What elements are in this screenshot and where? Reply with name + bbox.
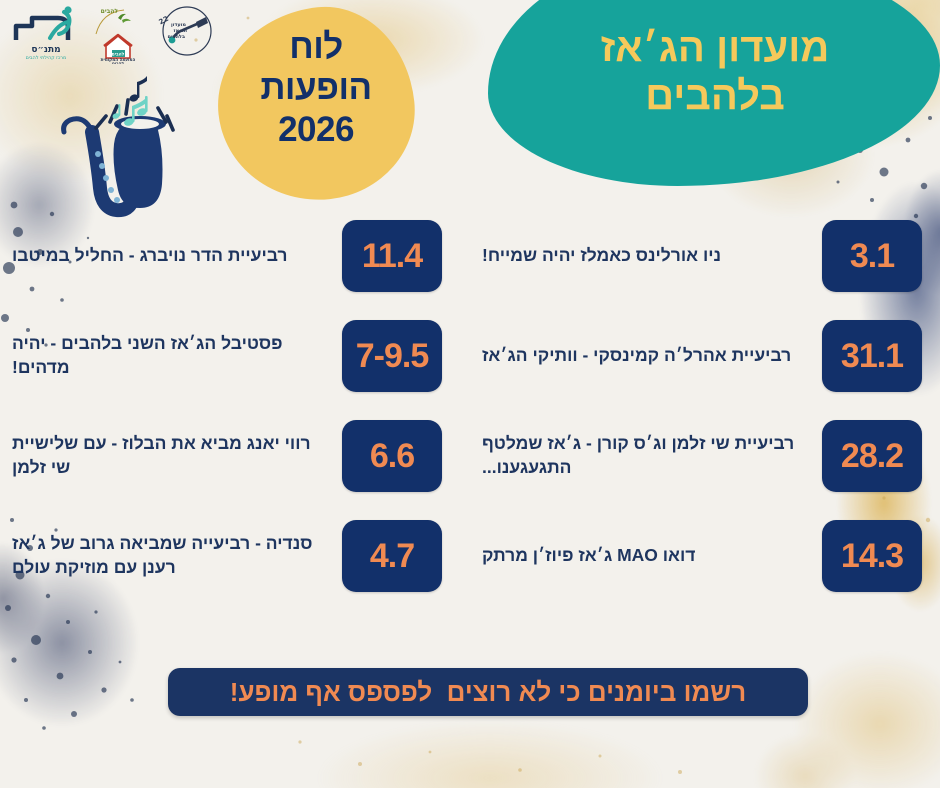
- event-date-badge[interactable]: 7-9.5: [342, 320, 442, 392]
- event-row[interactable]: 3.1 ניו אורלינס כאמלז יהיה שמייח!: [470, 206, 940, 306]
- jazz-club-lehavim-logo: 22 מועדון הג׳אז בלהבים: [156, 4, 218, 65]
- events-column-right: 3.1 ניו אורלינס כאמלז יהיה שמייח! 31.1 ר…: [470, 206, 940, 606]
- event-description: רביעיית אהרל׳ה קמינסקי - וותיקי הג׳אז: [470, 344, 822, 368]
- event-date-badge[interactable]: 6.6: [342, 420, 442, 492]
- schedule-title-line1: לוח: [228, 26, 404, 67]
- event-description: פסטיבל הג׳אז השני בלהבים - יהיה מדהים!: [0, 332, 342, 379]
- event-row[interactable]: 14.3 דואו MAO ג׳אז פיוז׳ן מרתק: [470, 506, 940, 606]
- svg-text:מתנ״ס: מתנ״ס: [31, 45, 60, 55]
- logo-strip: 22 מועדון הג׳אז בלהבים קהילה איכותית להב…: [8, 4, 218, 70]
- event-date-badge[interactable]: 28.2: [822, 420, 922, 492]
- event-date-badge[interactable]: 11.4: [342, 220, 442, 292]
- event-row[interactable]: 7-9.5 פסטיבל הג׳אז השני בלהבים - יהיה מד…: [0, 306, 470, 406]
- event-row[interactable]: 28.2 רביעיית שי זלמן וג׳ס קורן - ג׳אז שמ…: [470, 406, 940, 506]
- svg-text:להבים: להבים: [112, 61, 125, 64]
- schedule-title-year: 2026: [228, 109, 404, 150]
- svg-text:להבים: להבים: [101, 8, 119, 15]
- event-description: סנדיה - רביעייה שמביאה גרוב של ג׳אז רענן…: [0, 532, 342, 579]
- event-description: ניו אורלינס כאמלז יהיה שמייח!: [470, 244, 822, 268]
- lehavim-local-council-logo: קהילה איכותית להבים להבים המועצה המקומית…: [88, 4, 150, 69]
- club-title-line1: מועדון הג׳אז: [505, 24, 925, 72]
- club-title-line2: בלהבים: [505, 72, 925, 120]
- poster-canvas: לוח הופעות 2026 מועדון הג׳אז בלהבים 22 מ…: [0, 0, 940, 788]
- schedule-title: לוח הופעות 2026: [228, 26, 404, 150]
- event-row[interactable]: 11.4 רביעיית הדר נויברג - החליל במיטבו: [0, 206, 470, 306]
- club-title: מועדון הג׳אז בלהבים: [505, 24, 925, 120]
- event-description: רביעיית שי זלמן וג׳ס קורן - ג׳אז שמלטף ה…: [470, 432, 822, 479]
- svg-text:מרכז קהילתי להבים: מרכז קהילתי להבים: [26, 55, 67, 61]
- event-date-badge[interactable]: 31.1: [822, 320, 922, 392]
- event-row[interactable]: 4.7 סנדיה - רביעייה שמביאה גרוב של ג׳אז …: [0, 506, 470, 606]
- events-column-left: 11.4 רביעיית הדר נויברג - החליל במיטבו 7…: [0, 206, 470, 606]
- call-to-action-text: רשמו ביומנים כי לא רוצים לפספס אף מופע!: [230, 677, 746, 708]
- svg-text:קהילה איכותית: קהילה איכותית: [88, 4, 90, 6]
- event-row[interactable]: 6.6 רווי יאנג מביא את הבלוז - עם שלישיית…: [0, 406, 470, 506]
- event-description: דואו MAO ג׳אז פיוז׳ן מרתק: [470, 544, 822, 568]
- call-to-action-banner[interactable]: רשמו ביומנים כי לא רוצים לפספס אף מופע!: [168, 668, 808, 716]
- schedule-title-line2: הופעות: [228, 67, 404, 108]
- svg-text:בלהבים: בלהבים: [167, 34, 185, 40]
- matnas-lehavim-logo: מתנ״ס מרכז קהילתי להבים: [10, 4, 82, 69]
- event-description: רביעיית הדר נויברג - החליל במיטבו: [0, 244, 342, 268]
- event-row[interactable]: 31.1 רביעיית אהרל׳ה קמינסקי - וותיקי הג׳…: [470, 306, 940, 406]
- event-date-badge[interactable]: 4.7: [342, 520, 442, 592]
- event-date-badge[interactable]: 3.1: [822, 220, 922, 292]
- event-date-badge[interactable]: 14.3: [822, 520, 922, 592]
- event-description: רווי יאנג מביא את הבלוז - עם שלישיית שי …: [0, 432, 342, 479]
